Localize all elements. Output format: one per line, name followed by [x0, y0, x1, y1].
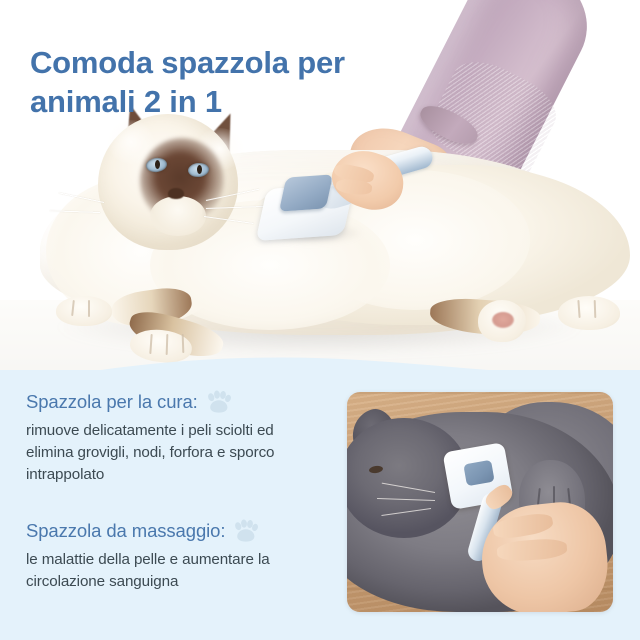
cat-pupil-right: [197, 165, 202, 174]
page-title: Comoda spazzola per animali 2 in 1: [30, 43, 450, 122]
cat-muzzle: [150, 196, 206, 236]
cat-nose: [168, 188, 184, 199]
feature-heading-row: Spazzola per la cura:: [26, 390, 306, 414]
product-photo: [347, 392, 613, 612]
feature-heading-row: Spazzola da massaggio:: [26, 519, 306, 543]
feature-item-massage: Spazzola da massaggio: le malattie della…: [26, 519, 306, 593]
feature-item-care: Spazzola per la cura: rimuove delicatame…: [26, 390, 306, 486]
cat-paw: [558, 296, 620, 330]
wood-plank-seam: [347, 392, 613, 394]
feature-heading-text: Spazzola per la cura:: [26, 391, 198, 413]
feature-body-text: le malattie della pelle e aumentare la c…: [26, 549, 306, 593]
cat-paw-pad: [492, 312, 514, 328]
paw-print-icon: [232, 519, 258, 543]
cat-pupil-left: [155, 160, 160, 169]
cat-paw: [56, 296, 112, 326]
paw-print-icon: [205, 390, 231, 414]
product-infographic: Comoda spazzola per animali 2 in 1 Spazz…: [0, 0, 640, 640]
feature-heading-text: Spazzola da massaggio:: [26, 520, 225, 542]
feature-body-text: rimuove delicatamente i peli sciolti ed …: [26, 420, 306, 486]
cat-toe-line: [88, 300, 90, 317]
